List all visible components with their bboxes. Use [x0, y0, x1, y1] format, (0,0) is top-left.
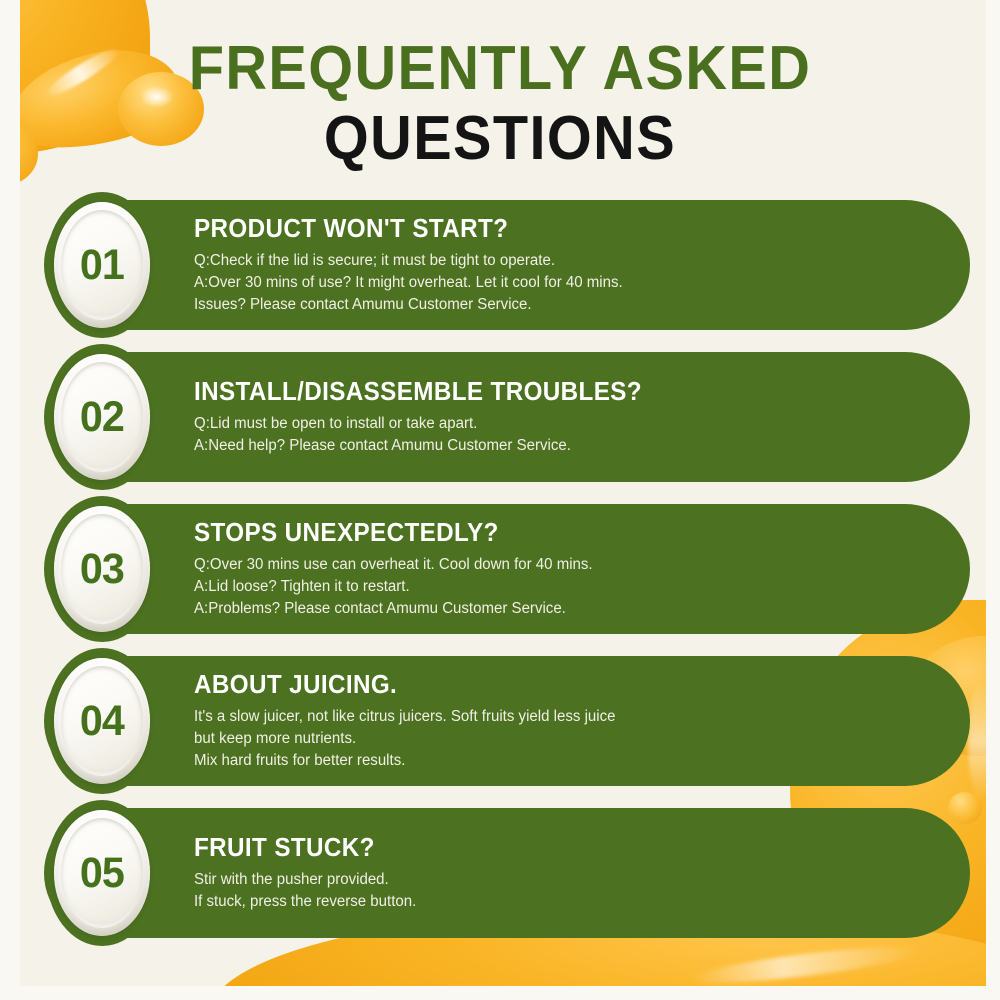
page-title-line-1: FREQUENTLY ASKED — [35, 38, 965, 100]
faq-number-badge-01: 01 — [46, 192, 158, 338]
faq-answer-line: If stuck, press the reverse button. — [194, 891, 908, 913]
faq-poster: FREQUENTLY ASKED QUESTIONS 01 PRODUCT WO… — [0, 0, 1000, 1000]
faq-answer-line: A:Lid loose? Tighten it to restart. — [194, 576, 908, 598]
faq-answer-line: A:Problems? Please contact Amumu Custome… — [194, 598, 908, 620]
poster-content: FREQUENTLY ASKED QUESTIONS 01 PRODUCT WO… — [0, 0, 1000, 938]
faq-number-label: 04 — [80, 697, 124, 746]
faq-list: 01 PRODUCT WON'T START? Q:Check if the l… — [0, 200, 1000, 938]
faq-answer-line: Stir with the pusher provided. — [194, 869, 908, 891]
faq-answer-body: Q:Over 30 mins use can overheat it. Cool… — [194, 554, 930, 620]
faq-item-05[interactable]: 05 FRUIT STUCK? Stir with the pusher pro… — [44, 808, 970, 938]
faq-question-title: ABOUT JUICING. — [194, 671, 893, 700]
faq-answer-line: A:Over 30 mins of use? It might overheat… — [194, 272, 908, 294]
page-frame-bottom — [0, 986, 1000, 1000]
faq-answer-line: Issues? Please contact Amumu Customer Se… — [194, 294, 908, 316]
faq-item-04[interactable]: 04 ABOUT JUICING. It's a slow juicer, no… — [44, 656, 970, 786]
page-title-line-2: QUESTIONS — [35, 108, 965, 170]
faq-item-01[interactable]: 01 PRODUCT WON'T START? Q:Check if the l… — [44, 200, 970, 330]
faq-number-label: 02 — [80, 393, 124, 442]
faq-question-title: PRODUCT WON'T START? — [194, 215, 893, 244]
faq-number-label: 01 — [80, 241, 124, 290]
splash-bottom-highlight — [690, 940, 921, 990]
faq-answer-line: A:Need help? Please contact Amumu Custom… — [194, 435, 908, 457]
faq-number-badge-02: 02 — [46, 344, 158, 490]
faq-answer-body: Stir with the pusher provided. If stuck,… — [194, 869, 930, 913]
faq-answer-line: Q:Over 30 mins use can overheat it. Cool… — [194, 554, 908, 576]
faq-answer-line: Q:Check if the lid is secure; it must be… — [194, 250, 908, 272]
faq-answer-line: but keep more nutrients. — [194, 728, 908, 750]
faq-number-badge-05: 05 — [46, 800, 158, 946]
faq-number-label: 03 — [80, 545, 124, 594]
faq-answer-body: Q:Lid must be open to install or take ap… — [194, 413, 930, 457]
faq-answer-line: It's a slow juicer, not like citrus juic… — [194, 706, 908, 728]
faq-answer-body: It's a slow juicer, not like citrus juic… — [194, 706, 930, 772]
faq-answer-body: Q:Check if the lid is secure; it must be… — [194, 250, 930, 316]
faq-question-title: INSTALL/DISASSEMBLE TROUBLES? — [194, 378, 893, 407]
faq-number-label: 05 — [80, 849, 124, 898]
faq-number-badge-03: 03 — [46, 496, 158, 642]
faq-item-03[interactable]: 03 STOPS UNEXPECTEDLY? Q:Over 30 mins us… — [44, 504, 970, 634]
faq-question-title: FRUIT STUCK? — [194, 834, 893, 863]
faq-question-title: STOPS UNEXPECTEDLY? — [194, 519, 893, 548]
page-title: FREQUENTLY ASKED QUESTIONS — [0, 0, 1000, 170]
faq-item-02[interactable]: 02 INSTALL/DISASSEMBLE TROUBLES? Q:Lid m… — [44, 352, 970, 482]
faq-number-badge-04: 04 — [46, 648, 158, 794]
faq-answer-line: Q:Lid must be open to install or take ap… — [194, 413, 908, 435]
faq-answer-line: Mix hard fruits for better results. — [194, 750, 908, 772]
